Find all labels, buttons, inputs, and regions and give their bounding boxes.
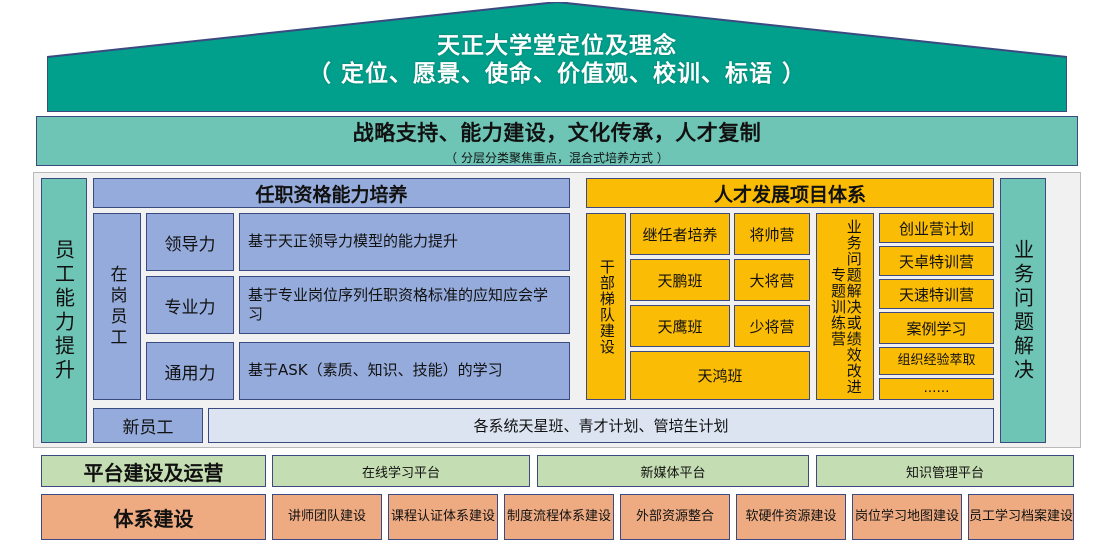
business-item-tiansu-label: 天速特训营 — [899, 284, 974, 305]
cadre-item-tianpeng-label: 天鹏班 — [657, 270, 702, 291]
system-item-learning-archive: 员工学习档案建设 — [968, 494, 1074, 540]
capability-desc-leadership-label: 基于天正领导力模型的能力提升 — [248, 232, 458, 252]
cadre-item-jiangshuai: 将帅营 — [734, 213, 810, 255]
capability-name-leadership-label: 领导力 — [165, 230, 216, 255]
system-item-process-system-label: 制度流程体系建设 — [507, 509, 611, 525]
cadre-column-label: 干部梯队建设 — [598, 259, 614, 355]
capability-name-professional-label: 专业力 — [165, 293, 216, 318]
business-item-case-study-label: 案例学习 — [906, 318, 966, 339]
business-item-ellipsis-label: …… — [924, 381, 950, 397]
left-column-label: 员工能力提升 — [50, 239, 79, 383]
right-column-label: 业务问题解决 — [1009, 239, 1038, 383]
cadre-item-successor: 继任者培养 — [630, 213, 730, 255]
capability-name-professional: 专业力 — [146, 276, 234, 334]
platform-item-online-learning: 在线学习平台 — [272, 455, 530, 487]
strategy-band-sub: （ 分层分类聚焦重点，混合式培养方式 ） — [445, 149, 669, 166]
newcomer-desc-box: 各系统天星班、青才计划、管培生计划 — [208, 408, 994, 443]
platform-item-new-media: 新媒体平台 — [537, 455, 809, 487]
business-item-tiansu: 天速特训营 — [879, 279, 994, 309]
capability-desc-general-label: 基于ASK（素质、知识、技能）的学习 — [248, 361, 503, 381]
left-column-employee-capability: 员工能力提升 — [41, 178, 87, 443]
newcomer-label: 新员工 — [123, 413, 174, 438]
platform-main-box: 平台建设及运营 — [41, 455, 266, 487]
business-item-tianzhuo: 天卓特训营 — [879, 246, 994, 276]
cadre-item-tianying: 天鹰班 — [630, 305, 730, 347]
platform-item-new-media-label: 新媒体平台 — [640, 462, 705, 481]
strategy-band: 战略支持、能力建设，文化传承，人才复制 （ 分层分类聚焦重点，混合式培养方式 ） — [36, 116, 1078, 166]
business-item-tianzhuo-label: 天卓特训营 — [899, 251, 974, 272]
newcomer-label-box: 新员工 — [93, 408, 203, 443]
system-item-trainer-team-label: 讲师团队建设 — [288, 509, 366, 525]
qualification-group-label: 在岗员工 — [105, 265, 130, 349]
roof-title-line1: 天正大学堂定位及理念 — [47, 32, 1067, 60]
platform-item-knowledge-mgmt: 知识管理平台 — [816, 455, 1074, 487]
cadre-item-tianhong-label: 天鸿班 — [697, 365, 742, 386]
platform-main-label: 平台建设及运营 — [84, 457, 224, 486]
cadre-item-dajiang: 大将营 — [734, 259, 810, 301]
system-item-external-resource-label: 外部资源整合 — [636, 509, 714, 525]
business-training-column: 业务问题解决或绩效改进专题训练营 — [816, 213, 874, 400]
cadre-item-dajiang-label: 大将营 — [749, 270, 794, 291]
cadre-item-tianhong: 天鸿班 — [630, 351, 810, 400]
cadre-item-shaojiang: 少将营 — [734, 305, 810, 347]
right-column-business-problem: 业务问题解决 — [1000, 178, 1046, 443]
strategy-band-main: 战略支持、能力建设，文化传承，人才复制 — [353, 117, 762, 147]
system-item-learning-archive-label: 员工学习档案建设 — [969, 509, 1073, 525]
system-item-hardware-software-label: 软硬件资源建设 — [745, 509, 836, 525]
system-item-external-resource: 外部资源整合 — [620, 494, 730, 540]
system-item-learning-map-label: 岗位学习地图建设 — [855, 509, 959, 525]
talent-title: 人才发展项目体系 — [714, 180, 866, 207]
diagram-canvas: 天正大学堂定位及理念 （ 定位、愿景、使命、价值观、校训、标语 ） 战略支持、能… — [0, 0, 1114, 551]
capability-name-general: 通用力 — [146, 342, 234, 400]
roof-title-line2: （ 定位、愿景、使命、价值观、校训、标语 ） — [47, 60, 1067, 88]
business-item-case-study: 案例学习 — [879, 312, 994, 344]
system-item-hardware-software: 软硬件资源建设 — [736, 494, 846, 540]
platform-item-knowledge-mgmt-label: 知识管理平台 — [906, 462, 984, 481]
system-item-course-cert-label: 课程认证体系建设 — [391, 509, 495, 525]
platform-item-online-learning-label: 在线学习平台 — [362, 462, 440, 481]
cadre-column: 干部梯队建设 — [586, 213, 626, 400]
system-main-box: 体系建设 — [41, 494, 266, 540]
system-main-label: 体系建设 — [114, 503, 194, 532]
system-item-process-system: 制度流程体系建设 — [504, 494, 614, 540]
business-item-startup-camp-label: 创业营计划 — [899, 218, 974, 239]
qualification-group-onjob: 在岗员工 — [93, 213, 141, 400]
capability-desc-leadership: 基于天正领导力模型的能力提升 — [239, 213, 570, 271]
capability-name-general-label: 通用力 — [165, 359, 216, 384]
system-item-course-cert: 课程认证体系建设 — [388, 494, 498, 540]
cadre-item-successor-label: 继任者培养 — [642, 224, 717, 245]
capability-desc-general: 基于ASK（素质、知识、技能）的学习 — [239, 342, 570, 400]
capability-desc-professional-label: 基于专业岗位序列任职资格标准的应知应会学习 — [248, 286, 561, 325]
cadre-item-jiangshuai-label: 将帅营 — [749, 224, 794, 245]
business-item-startup-camp: 创业营计划 — [879, 213, 994, 243]
roof-shape: 天正大学堂定位及理念 （ 定位、愿景、使命、价值观、校训、标语 ） — [47, 2, 1067, 112]
cadre-item-tianpeng: 天鹏班 — [630, 259, 730, 301]
capability-desc-professional: 基于专业岗位序列任职资格标准的应知应会学习 — [239, 276, 570, 334]
cadre-item-shaojiang-label: 少将营 — [749, 316, 794, 337]
business-item-org-experience-label: 组织经验萃取 — [897, 353, 975, 369]
system-item-learning-map: 岗位学习地图建设 — [852, 494, 962, 540]
talent-title-box: 人才发展项目体系 — [586, 178, 994, 208]
roof-title-block: 天正大学堂定位及理念 （ 定位、愿景、使命、价值观、校训、标语 ） — [47, 32, 1067, 88]
newcomer-desc: 各系统天星班、青才计划、管培生计划 — [473, 415, 728, 436]
system-item-trainer-team: 讲师团队建设 — [272, 494, 382, 540]
business-training-label: 业务问题解决或绩效改进专题训练营 — [829, 214, 861, 399]
business-item-org-experience: 组织经验萃取 — [879, 347, 994, 375]
qualification-title: 任职资格能力培养 — [255, 180, 407, 207]
business-item-ellipsis: …… — [879, 378, 994, 400]
capability-name-leadership: 领导力 — [146, 213, 234, 271]
cadre-item-tianying-label: 天鹰班 — [657, 316, 702, 337]
qualification-title-box: 任职资格能力培养 — [93, 178, 570, 208]
